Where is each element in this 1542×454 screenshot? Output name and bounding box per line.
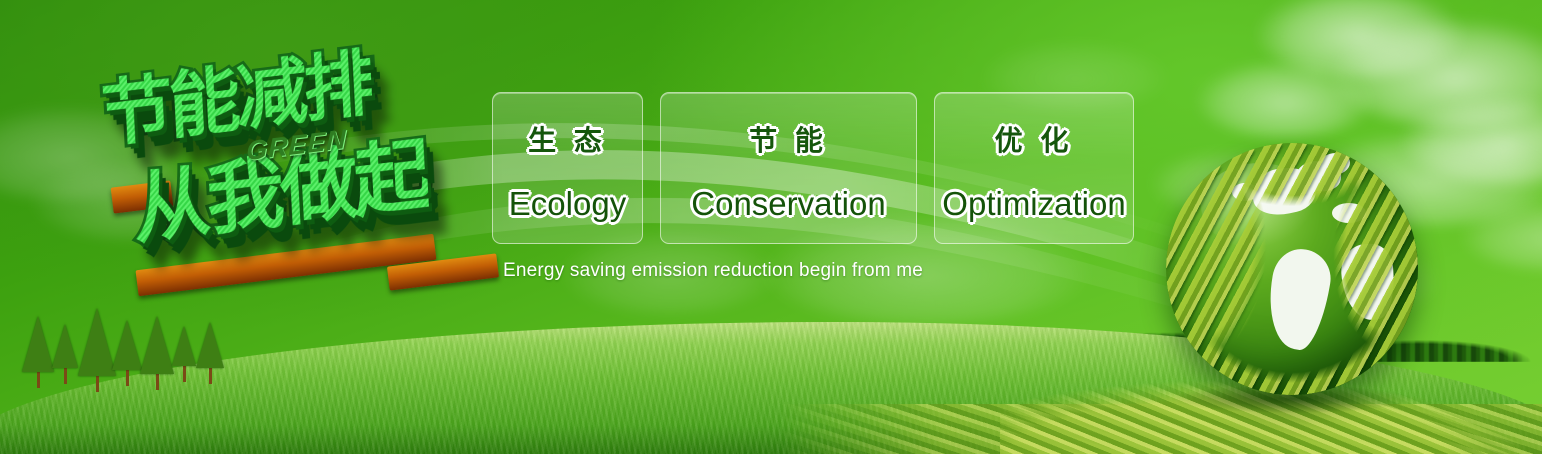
eco-banner: 节能减排 节能减排 从我做起 从我做起 GREEN 生 态 Ecology 节 … [0,0,1542,454]
title-artwork: 节能减排 节能减排 从我做起 从我做起 GREEN [88,34,498,274]
earth-globe [1150,135,1440,435]
pine-tree [140,316,174,390]
feature-card-ecology[interactable]: 生 态 Ecology [492,92,643,244]
tagline: Energy saving emission reduction begin f… [503,260,923,282]
cloud-shape [1255,0,1465,78]
feature-card-optimization[interactable]: 优 化 Optimization [934,92,1134,244]
pine-tree [172,326,196,382]
ivy-outer-fringe [1136,125,1416,397]
feature-card-group: 生 态 Ecology 节 能 Conservation 优 化 Optimiz… [492,92,1134,244]
feature-card-title-cn: 节 能 [749,119,828,159]
feature-card-title-cn: 生 态 [528,119,607,159]
feature-card-title-en: Conservation [691,185,885,223]
feature-card-conservation[interactable]: 节 能 Conservation [660,92,917,244]
cloud-shape [1330,18,1542,128]
feature-card-title-cn: 优 化 [995,119,1074,159]
pine-tree [112,320,142,386]
pine-tree [22,316,54,388]
feature-card-title-en: Optimization [942,185,1125,223]
pine-tree [196,322,224,384]
cloud-shape [1460,200,1542,270]
feature-card-title-en: Ecology [509,185,626,223]
pine-tree [78,308,116,392]
pine-tree [52,324,78,384]
